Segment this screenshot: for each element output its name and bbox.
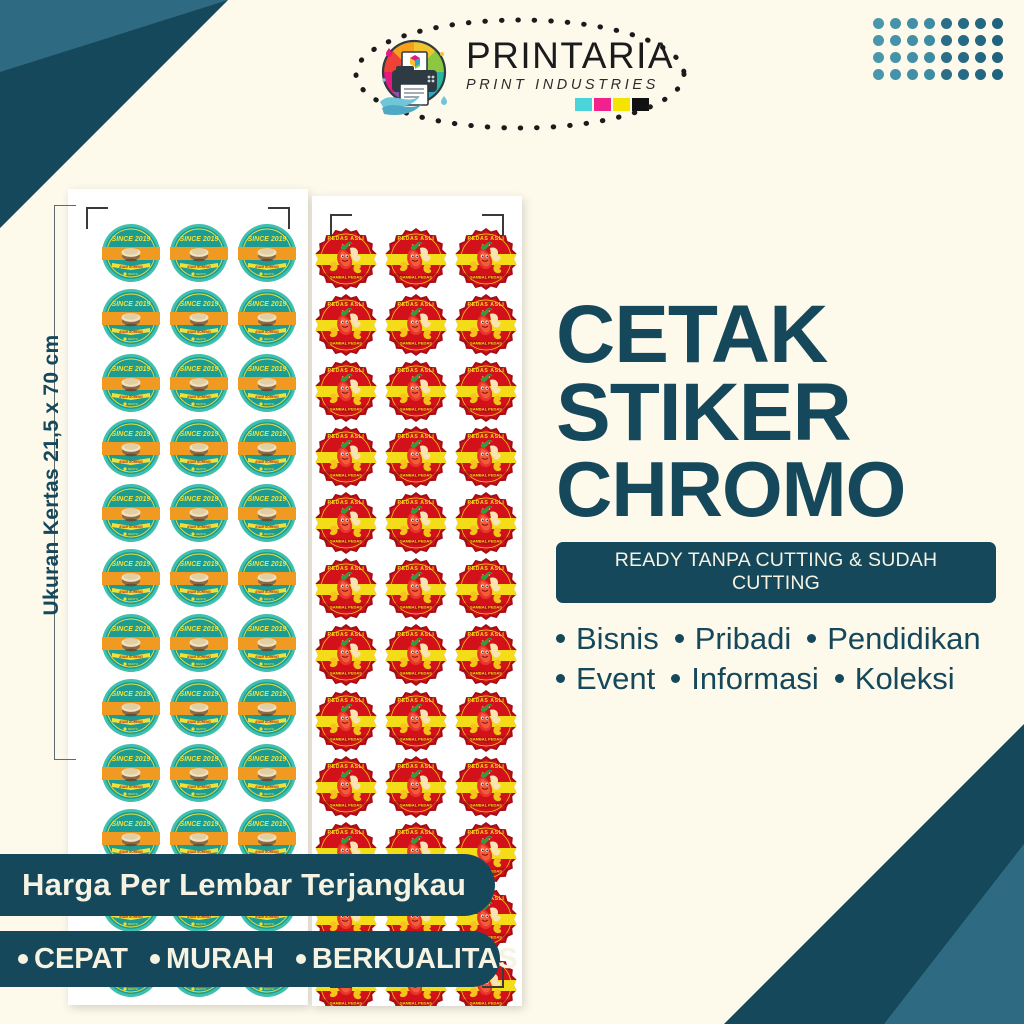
svg-text:SAMBAL PEDAS: SAMBAL PEDAS — [400, 605, 432, 610]
svg-text:PEDAS ASLI: PEDAS ASLI — [328, 698, 365, 704]
svg-text:PEDAS ASLI: PEDAS ASLI — [468, 236, 505, 242]
feature-dot-icon — [150, 954, 160, 964]
grid-dot — [975, 35, 986, 46]
bullet-dot-icon — [556, 634, 565, 643]
svg-text:SINCE 2019: SINCE 2019 — [180, 301, 219, 308]
price-banner: Harga Per Lembar Terjangkau — [0, 854, 495, 916]
svg-text:PEDAS ASLI: PEDAS ASLI — [328, 302, 365, 308]
svg-text:SAMBAL PEDAS: SAMBAL PEDAS — [470, 473, 502, 478]
svg-text:SAMBAL PEDAS: SAMBAL PEDAS — [470, 275, 502, 280]
dimension-label: Ukuran Kertas 21,5 x 70 cm — [40, 225, 64, 725]
svg-text:AYAM GORENG: AYAM GORENG — [119, 330, 143, 334]
red-sticker: PEDAS ASLI ★ ★ ★ SAMBAL PEDAS — [452, 490, 520, 556]
grid-dot — [975, 69, 986, 80]
svg-text:RESTO: RESTO — [264, 922, 275, 926]
svg-text:RESTO: RESTO — [196, 467, 207, 471]
bullet-label: Bisnis — [576, 621, 659, 657]
svg-text:SINCE 2019: SINCE 2019 — [248, 691, 287, 698]
grid-dot — [924, 18, 935, 29]
svg-text:SINCE 2019: SINCE 2019 — [248, 821, 287, 828]
svg-text:SINCE 2019: SINCE 2019 — [180, 626, 219, 633]
dimension-cap-bottom — [54, 759, 76, 760]
crop-mark-top-right — [268, 207, 290, 229]
teal-sticker: SINCE 2019 AYAM GORENG RESTO — [100, 742, 162, 804]
teal-sticker: SINCE 2019 AYAM GORENG RESTO — [168, 287, 230, 349]
status-badge: READY TANPA CUTTING & SUDAH CUTTING — [556, 542, 996, 603]
svg-text:SINCE 2019: SINCE 2019 — [180, 431, 219, 438]
red-sticker: PEDAS ASLI ★ ★ ★ SAMBAL PEDAS — [312, 424, 380, 490]
red-sticker: PEDAS ASLI ★ ★ ★ SAMBAL PEDAS — [452, 424, 520, 490]
teal-sticker: SINCE 2019 AYAM GORENG RESTO — [236, 612, 298, 674]
crop-mark-top-right — [482, 214, 504, 236]
teal-sticker: SINCE 2019 AYAM GORENG RESTO — [100, 352, 162, 414]
teal-sticker: SINCE 2019 AYAM GORENG RESTO — [100, 417, 162, 479]
grid-dot — [958, 18, 969, 29]
headline-line-1: CETAK — [556, 296, 996, 374]
svg-text:AYAM GORENG: AYAM GORENG — [187, 460, 211, 464]
grid-dot — [941, 18, 952, 29]
svg-text:RESTO: RESTO — [128, 532, 139, 536]
svg-text:RESTO: RESTO — [196, 987, 207, 991]
svg-text:RESTO: RESTO — [128, 597, 139, 601]
svg-text:AYAM GORENG: AYAM GORENG — [119, 655, 143, 659]
feature-item: MURAH — [150, 943, 274, 976]
svg-text:RESTO: RESTO — [128, 337, 139, 341]
svg-text:PEDAS ASLI: PEDAS ASLI — [398, 434, 435, 440]
feature-dot-icon — [18, 954, 28, 964]
svg-text:SINCE 2019: SINCE 2019 — [180, 366, 219, 373]
bullet-label: Pribadi — [695, 621, 792, 657]
dot-grid-decoration — [873, 18, 1006, 83]
svg-text:RESTO: RESTO — [264, 337, 275, 341]
feature-label: MURAH — [166, 943, 274, 976]
svg-text:SINCE 2019: SINCE 2019 — [248, 496, 287, 503]
grid-dot — [890, 18, 901, 29]
svg-text:SAMBAL PEDAS: SAMBAL PEDAS — [400, 737, 432, 742]
svg-text:RESTO: RESTO — [264, 272, 275, 276]
svg-text:SINCE 2019: SINCE 2019 — [180, 236, 219, 243]
svg-text:AYAM GORENG: AYAM GORENG — [119, 785, 143, 789]
grid-dot — [890, 69, 901, 80]
svg-text:RESTO: RESTO — [196, 272, 207, 276]
red-sticker: PEDAS ASLI ★ ★ ★ SAMBAL PEDAS — [382, 754, 450, 820]
svg-text:SAMBAL PEDAS: SAMBAL PEDAS — [400, 341, 432, 346]
svg-text:AYAM GORENG: AYAM GORENG — [187, 655, 211, 659]
grid-dot — [941, 35, 952, 46]
red-sticker: PEDAS ASLI ★ ★ ★ SAMBAL PEDAS — [452, 754, 520, 820]
grid-dot — [873, 52, 884, 63]
grid-dot — [924, 69, 935, 80]
svg-text:SINCE 2019: SINCE 2019 — [112, 691, 151, 698]
grid-dot — [992, 69, 1003, 80]
svg-text:PEDAS ASLI: PEDAS ASLI — [328, 434, 365, 440]
bullet-item: Informasi — [671, 661, 818, 697]
bullet-row-2: EventInformasiKoleksi — [556, 661, 996, 697]
svg-text:SINCE 2019: SINCE 2019 — [248, 431, 287, 438]
bullet-dot-icon — [807, 634, 816, 643]
red-sticker: PEDAS ASLI ★ ★ ★ SAMBAL PEDAS — [382, 688, 450, 754]
red-sticker: PEDAS ASLI ★ ★ ★ SAMBAL PEDAS — [382, 226, 450, 292]
printer-color-wheel-icon — [372, 32, 456, 116]
grid-dot — [907, 52, 918, 63]
svg-text:PEDAS ASLI: PEDAS ASLI — [468, 764, 505, 770]
svg-text:PEDAS ASLI: PEDAS ASLI — [328, 830, 365, 836]
red-sticker: PEDAS ASLI ★ ★ ★ SAMBAL PEDAS — [312, 622, 380, 688]
feature-item: BERKUALITAS — [296, 943, 518, 976]
svg-text:SAMBAL PEDAS: SAMBAL PEDAS — [470, 737, 502, 742]
red-sticker: PEDAS ASLI ★ ★ ★ SAMBAL PEDAS — [452, 358, 520, 424]
svg-text:SINCE 2019: SINCE 2019 — [112, 366, 151, 373]
grid-dot — [907, 18, 918, 29]
svg-text:SAMBAL PEDAS: SAMBAL PEDAS — [400, 539, 432, 544]
bullet-item: Pendidikan — [807, 621, 980, 657]
svg-text:PEDAS ASLI: PEDAS ASLI — [328, 764, 365, 770]
svg-text:SINCE 2019: SINCE 2019 — [180, 821, 219, 828]
bullet-dot-icon — [835, 674, 844, 683]
teal-sticker: SINCE 2019 AYAM GORENG RESTO — [100, 612, 162, 674]
grid-dot — [992, 52, 1003, 63]
red-sticker: PEDAS ASLI ★ ★ ★ SAMBAL PEDAS — [452, 688, 520, 754]
teal-sticker: SINCE 2019 AYAM GORENG RESTO — [168, 547, 230, 609]
svg-text:SINCE 2019: SINCE 2019 — [180, 756, 219, 763]
grid-dot — [924, 35, 935, 46]
features-banner: CEPATMURAHBERKUALITAS — [0, 931, 500, 987]
svg-text:SINCE 2019: SINCE 2019 — [248, 301, 287, 308]
logo-badge: PRINTARIA PRINT INDUSTRIES — [349, 13, 691, 135]
svg-text:RESTO: RESTO — [264, 792, 275, 796]
teal-sticker: SINCE 2019 AYAM GORENG RESTO — [100, 287, 162, 349]
svg-text:PEDAS ASLI: PEDAS ASLI — [328, 368, 365, 374]
svg-text:AYAM GORENG: AYAM GORENG — [255, 265, 279, 269]
grid-dot — [958, 69, 969, 80]
red-sticker: PEDAS ASLI ★ ★ ★ SAMBAL PEDAS — [312, 556, 380, 622]
svg-text:SINCE 2019: SINCE 2019 — [248, 366, 287, 373]
feature-dot-icon — [296, 954, 306, 964]
bullet-dot-icon — [671, 674, 680, 683]
svg-text:PEDAS ASLI: PEDAS ASLI — [398, 500, 435, 506]
teal-sticker: SINCE 2019 AYAM GORENG RESTO — [236, 742, 298, 804]
svg-text:AYAM GORENG: AYAM GORENG — [119, 525, 143, 529]
svg-text:RESTO: RESTO — [128, 662, 139, 666]
svg-text:AYAM GORENG: AYAM GORENG — [119, 265, 143, 269]
svg-text:PEDAS ASLI: PEDAS ASLI — [398, 302, 435, 308]
teal-sticker: SINCE 2019 AYAM GORENG RESTO — [236, 677, 298, 739]
bullet-item: Koleksi — [835, 661, 955, 697]
teal-sticker: SINCE 2019 AYAM GORENG RESTO — [168, 612, 230, 674]
svg-text:SINCE 2019: SINCE 2019 — [248, 561, 287, 568]
svg-text:RESTO: RESTO — [264, 597, 275, 601]
svg-text:SINCE 2019: SINCE 2019 — [248, 626, 287, 633]
bullet-item: Bisnis — [556, 621, 659, 657]
red-sticker: PEDAS ASLI ★ ★ ★ SAMBAL PEDAS — [382, 490, 450, 556]
svg-text:SINCE 2019: SINCE 2019 — [112, 561, 151, 568]
bullet-item: Pribadi — [675, 621, 792, 657]
headline-line-2: STIKER — [556, 374, 996, 452]
teal-sticker: SINCE 2019 AYAM GORENG RESTO — [100, 547, 162, 609]
crop-mark-top-left — [330, 214, 352, 236]
svg-text:AYAM GORENG: AYAM GORENG — [187, 525, 211, 529]
red-sticker: PEDAS ASLI ★ ★ ★ SAMBAL PEDAS — [312, 358, 380, 424]
svg-text:RESTO: RESTO — [196, 727, 207, 731]
red-sticker: PEDAS ASLI ★ ★ ★ SAMBAL PEDAS — [452, 622, 520, 688]
svg-text:AYAM GORENG: AYAM GORENG — [255, 720, 279, 724]
svg-text:RESTO: RESTO — [128, 402, 139, 406]
svg-text:RESTO: RESTO — [128, 922, 139, 926]
bullet-dot-icon — [556, 674, 565, 683]
teal-sticker: SINCE 2019 AYAM GORENG RESTO — [100, 222, 162, 284]
bullet-label: Informasi — [691, 661, 818, 697]
svg-text:SINCE 2019: SINCE 2019 — [180, 496, 219, 503]
teal-sticker: SINCE 2019 AYAM GORENG RESTO — [236, 222, 298, 284]
svg-text:AYAM GORENG: AYAM GORENG — [255, 655, 279, 659]
grid-dot — [941, 52, 952, 63]
grid-dot — [941, 69, 952, 80]
svg-text:SAMBAL PEDAS: SAMBAL PEDAS — [400, 473, 432, 478]
bullet-dot-icon — [675, 634, 684, 643]
price-banner-label: Harga Per Lembar Terjangkau — [22, 867, 466, 903]
svg-text:SAMBAL PEDAS: SAMBAL PEDAS — [330, 737, 362, 742]
red-sticker: PEDAS ASLI ★ ★ ★ SAMBAL PEDAS — [452, 556, 520, 622]
svg-text:AYAM GORENG: AYAM GORENG — [187, 395, 211, 399]
svg-text:SAMBAL PEDAS: SAMBAL PEDAS — [400, 671, 432, 676]
svg-text:RESTO: RESTO — [196, 597, 207, 601]
svg-text:PEDAS ASLI: PEDAS ASLI — [328, 566, 365, 572]
red-sticker: PEDAS ASLI ★ ★ ★ SAMBAL PEDAS — [382, 358, 450, 424]
svg-text:AYAM GORENG: AYAM GORENG — [255, 460, 279, 464]
svg-text:PEDAS ASLI: PEDAS ASLI — [398, 566, 435, 572]
paper-size-dimension: Ukuran Kertas 21,5 x 70 cm — [14, 205, 76, 760]
red-sticker: PEDAS ASLI ★ ★ ★ SAMBAL PEDAS — [382, 556, 450, 622]
svg-text:SAMBAL PEDAS: SAMBAL PEDAS — [470, 341, 502, 346]
svg-text:SINCE 2019: SINCE 2019 — [112, 431, 151, 438]
feature-label: CEPAT — [34, 943, 128, 976]
svg-text:RESTO: RESTO — [196, 532, 207, 536]
svg-text:SINCE 2019: SINCE 2019 — [112, 496, 151, 503]
grid-dot — [907, 35, 918, 46]
svg-text:AYAM GORENG: AYAM GORENG — [119, 395, 143, 399]
teal-sticker: SINCE 2019 AYAM GORENG RESTO — [236, 417, 298, 479]
red-sticker: PEDAS ASLI ★ ★ ★ SAMBAL PEDAS — [382, 424, 450, 490]
svg-text:PEDAS ASLI: PEDAS ASLI — [468, 500, 505, 506]
svg-text:SAMBAL PEDAS: SAMBAL PEDAS — [400, 275, 432, 280]
svg-text:SINCE 2019: SINCE 2019 — [248, 236, 287, 243]
grid-dot — [873, 18, 884, 29]
svg-text:AYAM GORENG: AYAM GORENG — [119, 460, 143, 464]
svg-text:RESTO: RESTO — [264, 532, 275, 536]
svg-text:SAMBAL PEDAS: SAMBAL PEDAS — [330, 671, 362, 676]
svg-text:RESTO: RESTO — [128, 467, 139, 471]
svg-text:SINCE 2019: SINCE 2019 — [112, 626, 151, 633]
grid-dot — [992, 35, 1003, 46]
teal-sticker: SINCE 2019 AYAM GORENG RESTO — [236, 482, 298, 544]
svg-text:AYAM GORENG: AYAM GORENG — [119, 720, 143, 724]
crop-mark-top-left — [86, 207, 108, 229]
svg-text:PEDAS ASLI: PEDAS ASLI — [398, 632, 435, 638]
headline: CETAK STIKER CHROMO — [556, 296, 996, 526]
svg-text:AYAM GORENG: AYAM GORENG — [255, 395, 279, 399]
svg-text:PEDAS ASLI: PEDAS ASLI — [398, 764, 435, 770]
grid-dot — [907, 69, 918, 80]
svg-text:SAMBAL PEDAS: SAMBAL PEDAS — [400, 1001, 432, 1006]
svg-text:SAMBAL PEDAS: SAMBAL PEDAS — [330, 407, 362, 412]
svg-text:RESTO: RESTO — [264, 402, 275, 406]
svg-text:SAMBAL PEDAS: SAMBAL PEDAS — [470, 605, 502, 610]
svg-text:SAMBAL PEDAS: SAMBAL PEDAS — [400, 407, 432, 412]
teal-sticker: SINCE 2019 AYAM GORENG RESTO — [168, 482, 230, 544]
svg-text:RESTO: RESTO — [264, 727, 275, 731]
svg-text:SAMBAL PEDAS: SAMBAL PEDAS — [400, 803, 432, 808]
grid-dot — [958, 52, 969, 63]
svg-text:AYAM GORENG: AYAM GORENG — [187, 590, 211, 594]
svg-text:SINCE 2019: SINCE 2019 — [180, 691, 219, 698]
svg-text:SAMBAL PEDAS: SAMBAL PEDAS — [470, 671, 502, 676]
svg-text:AYAM GORENG: AYAM GORENG — [255, 590, 279, 594]
bullet-label: Pendidikan — [827, 621, 980, 657]
features-list: CEPATMURAHBERKUALITAS — [18, 943, 518, 976]
teal-sticker: SINCE 2019 AYAM GORENG RESTO — [168, 417, 230, 479]
grid-dot — [890, 52, 901, 63]
svg-text:RESTO: RESTO — [196, 662, 207, 666]
svg-text:SAMBAL PEDAS: SAMBAL PEDAS — [330, 275, 362, 280]
svg-text:PEDAS ASLI: PEDAS ASLI — [398, 698, 435, 704]
svg-text:PEDAS ASLI: PEDAS ASLI — [468, 566, 505, 572]
svg-text:PEDAS ASLI: PEDAS ASLI — [468, 302, 505, 308]
teal-sticker: SINCE 2019 AYAM GORENG RESTO — [100, 677, 162, 739]
promo-text-column: CETAK STIKER CHROMO READY TANPA CUTTING … — [556, 296, 996, 701]
grid-dot — [975, 52, 986, 63]
svg-text:RESTO: RESTO — [128, 987, 139, 991]
svg-text:AYAM GORENG: AYAM GORENG — [119, 590, 143, 594]
svg-text:SAMBAL PEDAS: SAMBAL PEDAS — [330, 1001, 362, 1006]
grid-dot — [873, 69, 884, 80]
svg-text:RESTO: RESTO — [264, 987, 275, 991]
svg-text:AYAM GORENG: AYAM GORENG — [187, 265, 211, 269]
svg-text:SAMBAL PEDAS: SAMBAL PEDAS — [330, 605, 362, 610]
svg-text:SINCE 2019: SINCE 2019 — [112, 236, 151, 243]
teal-sticker: SINCE 2019 AYAM GORENG RESTO — [100, 482, 162, 544]
bullet-row-1: BisnisPribadiPendidikan — [556, 621, 996, 657]
teal-sticker: SINCE 2019 AYAM GORENG RESTO — [168, 222, 230, 284]
svg-text:AYAM GORENG: AYAM GORENG — [255, 785, 279, 789]
svg-text:PEDAS ASLI: PEDAS ASLI — [398, 830, 435, 836]
svg-text:PEDAS ASLI: PEDAS ASLI — [328, 632, 365, 638]
svg-text:RESTO: RESTO — [196, 337, 207, 341]
svg-text:RESTO: RESTO — [196, 402, 207, 406]
svg-text:RESTO: RESTO — [196, 922, 207, 926]
grid-dot — [992, 18, 1003, 29]
red-sticker: PEDAS ASLI ★ ★ ★ SAMBAL PEDAS — [312, 688, 380, 754]
red-sticker: PEDAS ASLI ★ ★ ★ SAMBAL PEDAS — [452, 292, 520, 358]
svg-text:PEDAS ASLI: PEDAS ASLI — [468, 434, 505, 440]
feature-label: BERKUALITAS — [312, 943, 518, 976]
red-sticker: PEDAS ASLI ★ ★ ★ SAMBAL PEDAS — [312, 754, 380, 820]
svg-text:SINCE 2019: SINCE 2019 — [248, 756, 287, 763]
svg-text:SAMBAL PEDAS: SAMBAL PEDAS — [330, 341, 362, 346]
svg-text:PEDAS ASLI: PEDAS ASLI — [468, 368, 505, 374]
svg-text:PEDAS ASLI: PEDAS ASLI — [468, 632, 505, 638]
svg-text:SAMBAL PEDAS: SAMBAL PEDAS — [470, 407, 502, 412]
svg-text:AYAM GORENG: AYAM GORENG — [187, 330, 211, 334]
svg-text:AYAM GORENG: AYAM GORENG — [255, 330, 279, 334]
grid-dot — [958, 35, 969, 46]
svg-text:AYAM GORENG: AYAM GORENG — [187, 785, 211, 789]
svg-text:SAMBAL PEDAS: SAMBAL PEDAS — [470, 1001, 502, 1006]
headline-line-3: CHROMO — [556, 452, 996, 526]
svg-text:AYAM GORENG: AYAM GORENG — [187, 720, 211, 724]
svg-text:SAMBAL PEDAS: SAMBAL PEDAS — [330, 803, 362, 808]
svg-text:RESTO: RESTO — [128, 727, 139, 731]
red-sticker: PEDAS ASLI ★ ★ ★ SAMBAL PEDAS — [312, 490, 380, 556]
red-sticker: PEDAS ASLI ★ ★ ★ SAMBAL PEDAS — [382, 622, 450, 688]
svg-text:PEDAS ASLI: PEDAS ASLI — [468, 830, 505, 836]
svg-text:SAMBAL PEDAS: SAMBAL PEDAS — [330, 539, 362, 544]
grid-dot — [890, 35, 901, 46]
svg-text:PEDAS ASLI: PEDAS ASLI — [328, 236, 365, 242]
feature-item: CEPAT — [18, 943, 128, 976]
svg-text:SINCE 2019: SINCE 2019 — [112, 821, 151, 828]
svg-text:PEDAS ASLI: PEDAS ASLI — [398, 236, 435, 242]
svg-text:AYAM GORENG: AYAM GORENG — [255, 525, 279, 529]
svg-text:PEDAS ASLI: PEDAS ASLI — [468, 698, 505, 704]
svg-text:RESTO: RESTO — [128, 272, 139, 276]
red-sticker: PEDAS ASLI ★ ★ ★ SAMBAL PEDAS — [382, 292, 450, 358]
svg-text:PEDAS ASLI: PEDAS ASLI — [328, 500, 365, 506]
svg-text:SINCE 2019: SINCE 2019 — [112, 301, 151, 308]
teal-sticker: SINCE 2019 AYAM GORENG RESTO — [168, 677, 230, 739]
dimension-cap-top — [54, 205, 76, 206]
svg-text:SINCE 2019: SINCE 2019 — [180, 561, 219, 568]
teal-sticker: SINCE 2019 AYAM GORENG RESTO — [236, 287, 298, 349]
bullet-label: Koleksi — [855, 661, 955, 697]
svg-text:RESTO: RESTO — [128, 792, 139, 796]
grid-dot — [873, 35, 884, 46]
svg-text:PEDAS ASLI: PEDAS ASLI — [398, 368, 435, 374]
grid-dot — [975, 18, 986, 29]
svg-text:SAMBAL PEDAS: SAMBAL PEDAS — [470, 539, 502, 544]
svg-text:SAMBAL PEDAS: SAMBAL PEDAS — [330, 473, 362, 478]
svg-text:RESTO: RESTO — [264, 662, 275, 666]
svg-text:SINCE 2019: SINCE 2019 — [112, 756, 151, 763]
teal-sticker: SINCE 2019 AYAM GORENG RESTO — [168, 742, 230, 804]
teal-sticker: SINCE 2019 AYAM GORENG RESTO — [168, 352, 230, 414]
svg-text:SAMBAL PEDAS: SAMBAL PEDAS — [470, 803, 502, 808]
svg-text:RESTO: RESTO — [196, 792, 207, 796]
red-sticker: PEDAS ASLI ★ ★ ★ SAMBAL PEDAS — [312, 292, 380, 358]
bullet-item: Event — [556, 661, 655, 697]
teal-sticker: SINCE 2019 AYAM GORENG RESTO — [236, 352, 298, 414]
teal-sticker: SINCE 2019 AYAM GORENG RESTO — [236, 547, 298, 609]
usage-bullet-list: BisnisPribadiPendidikan EventInformasiKo… — [556, 621, 996, 697]
svg-text:RESTO: RESTO — [264, 467, 275, 471]
bullet-label: Event — [576, 661, 655, 697]
grid-dot — [924, 52, 935, 63]
